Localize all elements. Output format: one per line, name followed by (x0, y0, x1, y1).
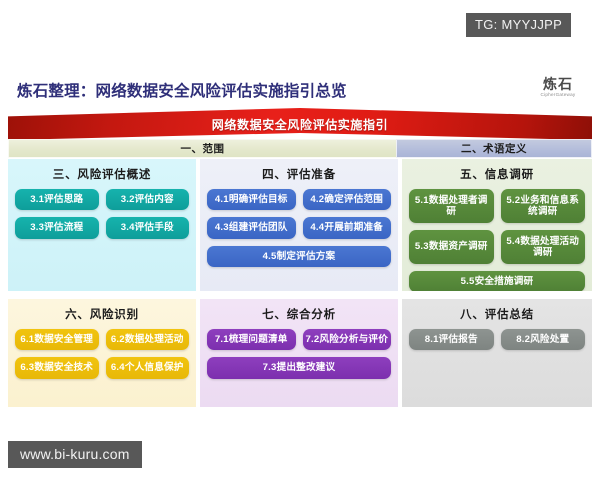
banner: 网络数据安全风险评估实施指引 (8, 108, 592, 140)
section-panel-title: 四、评估准备 (207, 166, 391, 182)
section-item-row: 6.3数据安全技术 6.4个人信息保护 (15, 357, 189, 378)
brand-logo: 炼石 CipherGateway (527, 77, 589, 98)
section-item-3-4[interactable]: 3.4评估手段 (106, 217, 190, 238)
section-item-row: 7.3提出整改建议 (207, 357, 391, 378)
section-item-row: 3.1评估思路 3.2评估内容 (15, 189, 189, 210)
section-panel-title: 三、风险评估概述 (15, 166, 189, 182)
section-item-3-2[interactable]: 3.2评估内容 (106, 189, 190, 210)
page-title: 炼石整理：网络数据安全风险评估实施指引总览 (17, 79, 347, 101)
top-section-bars: 一、范围 二、术语定义 (8, 139, 592, 158)
section-item-4-2[interactable]: 4.2确定评估范围 (303, 189, 392, 210)
section-panel-title: 七、综合分析 (207, 306, 391, 322)
logo-english-mark: CipherGateway (527, 93, 589, 98)
section-item-row: 6.1数据安全管理 6.2数据处理活动 (15, 329, 189, 350)
section-item-row: 4.5制定评估方案 (207, 246, 391, 267)
section-item-6-3[interactable]: 6.3数据安全技术 (15, 357, 99, 378)
logo-chinese-mark: 炼石 (527, 77, 589, 91)
section-item-6-1[interactable]: 6.1数据安全管理 (15, 329, 99, 350)
tg-badge: TG: MYYJJPP (466, 13, 571, 37)
section-item-4-4[interactable]: 4.4开展前期准备 (303, 217, 392, 238)
section-item-5-3[interactable]: 5.3数据资产调研 (409, 230, 494, 264)
section-item-4-3[interactable]: 4.3组建评估团队 (207, 217, 296, 238)
section-panel-risk-overview: 三、风险评估概述 3.1评估思路 3.2评估内容 3.3评估流程 3.4评估手段 (8, 159, 196, 291)
section-panel-risk-identification: 六、风险识别 6.1数据安全管理 6.2数据处理活动 6.3数据安全技术 6.4… (8, 299, 196, 407)
sections-grid: 三、风险评估概述 3.1评估思路 3.2评估内容 3.3评估流程 3.4评估手段… (8, 159, 592, 407)
section-item-row: 7.1梳理问题清单 7.2风险分析与评价 (207, 329, 391, 350)
section-panel-information-survey: 五、信息调研 5.1数据处理者调研 5.2业务和信息系统调研 5.3数据资产调研… (402, 159, 592, 291)
slide-canvas: TG: MYYJJPP 炼石整理：网络数据安全风险评估实施指引总览 炼石 Cip… (0, 0, 600, 480)
section-bar-terminology[interactable]: 二、术语定义 (396, 139, 592, 158)
section-item-6-4[interactable]: 6.4个人信息保护 (106, 357, 190, 378)
section-item-7-3[interactable]: 7.3提出整改建议 (207, 357, 391, 378)
section-panel-assessment-preparation: 四、评估准备 4.1明确评估目标 4.2确定评估范围 4.3组建评估团队 4.4… (200, 159, 398, 291)
section-item-row: 8.1评估报告 8.2风险处置 (409, 329, 585, 350)
banner-title: 网络数据安全风险评估实施指引 (8, 116, 592, 133)
section-item-6-2[interactable]: 6.2数据处理活动 (106, 329, 190, 350)
section-item-row: 3.3评估流程 3.4评估手段 (15, 217, 189, 238)
section-panel-title: 五、信息调研 (409, 166, 585, 182)
section-item-3-3[interactable]: 3.3评估流程 (15, 217, 99, 238)
section-bar-scope[interactable]: 一、范围 (8, 139, 396, 158)
section-panel-assessment-summary: 八、评估总结 8.1评估报告 8.2风险处置 (402, 299, 592, 407)
section-item-4-1[interactable]: 4.1明确评估目标 (207, 189, 296, 210)
section-item-row: 4.1明确评估目标 4.2确定评估范围 (207, 189, 391, 210)
section-item-row: 5.3数据资产调研 5.4数据处理活动调研 (409, 230, 585, 264)
section-item-4-5[interactable]: 4.5制定评估方案 (207, 246, 391, 267)
section-item-5-4[interactable]: 5.4数据处理活动调研 (501, 230, 586, 264)
section-item-8-1[interactable]: 8.1评估报告 (409, 329, 494, 350)
section-panel-title: 六、风险识别 (15, 306, 189, 322)
site-watermark: www.bi-kuru.com (8, 441, 142, 468)
section-item-row: 5.5安全措施调研 (409, 271, 585, 291)
section-item-row: 5.1数据处理者调研 5.2业务和信息系统调研 (409, 189, 585, 223)
section-item-3-1[interactable]: 3.1评估思路 (15, 189, 99, 210)
section-item-7-2[interactable]: 7.2风险分析与评价 (303, 329, 392, 350)
section-item-5-5[interactable]: 5.5安全措施调研 (409, 271, 585, 291)
section-item-row: 4.3组建评估团队 4.4开展前期准备 (207, 217, 391, 238)
section-item-5-1[interactable]: 5.1数据处理者调研 (409, 189, 494, 223)
section-panel-title: 八、评估总结 (409, 306, 585, 322)
section-item-5-2[interactable]: 5.2业务和信息系统调研 (501, 189, 586, 223)
section-panel-comprehensive-analysis: 七、综合分析 7.1梳理问题清单 7.2风险分析与评价 7.3提出整改建议 (200, 299, 398, 407)
section-item-8-2[interactable]: 8.2风险处置 (501, 329, 586, 350)
section-item-7-1[interactable]: 7.1梳理问题清单 (207, 329, 296, 350)
